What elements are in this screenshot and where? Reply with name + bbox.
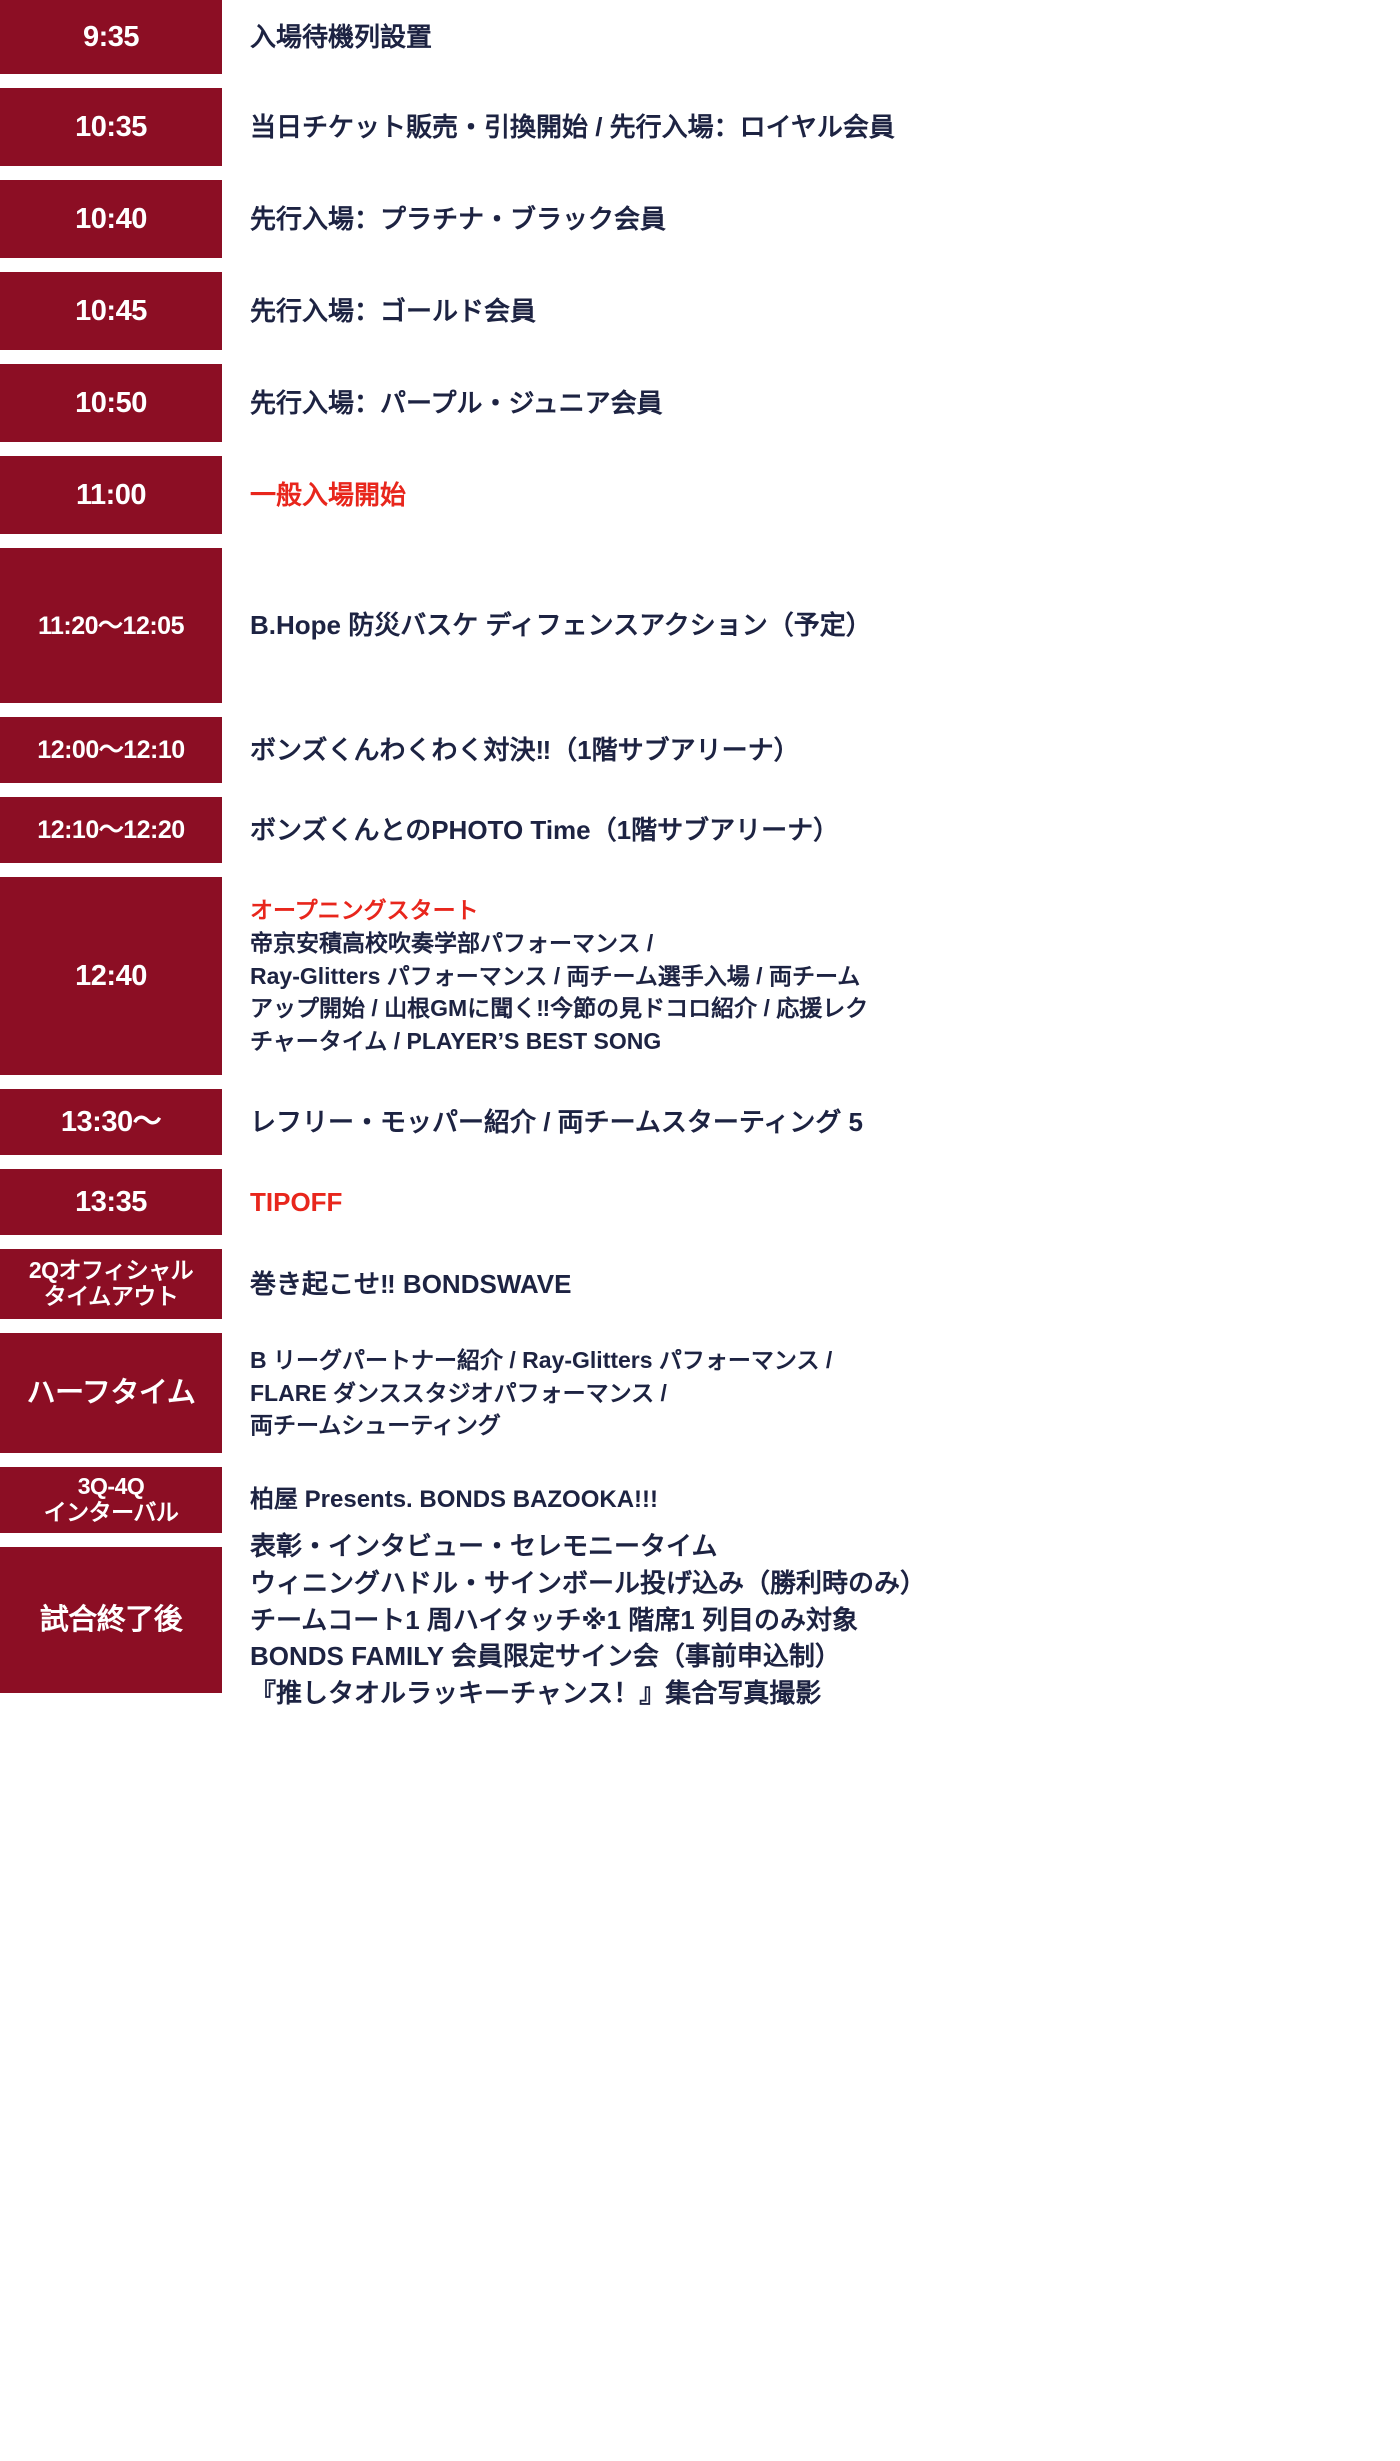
- schedule-description-cell: 柏屋 Presents. BONDS BAZOOKA!!!: [222, 1467, 1400, 1533]
- schedule-row: 2Qオフィシャルタイムアウト巻き起こせ‼ BONDSWAVE: [0, 1249, 1400, 1319]
- schedule-description-line: チャータイム / PLAYER’S BEST SONG: [250, 1025, 1390, 1058]
- schedule-time-cell: 11:00: [0, 456, 222, 534]
- schedule-time-cell: 13:30〜: [0, 1089, 222, 1155]
- schedule-description-line: ボンズくんわくわく対決‼（1階サブアリーナ）: [250, 732, 1390, 769]
- schedule-time-cell: 12:40: [0, 877, 222, 1075]
- schedule-description-cell: 巻き起こせ‼ BONDSWAVE: [222, 1249, 1400, 1319]
- row-gap: [0, 1155, 1400, 1169]
- schedule-time-cell: 10:45: [0, 272, 222, 350]
- schedule-description-line: B リーグパートナー紹介 / Ray-Glitters パフォーマンス /: [250, 1344, 1390, 1377]
- schedule-row: 試合終了後表彰・インタビュー・セレモニータイムウィニングハドル・サインボール投げ…: [0, 1547, 1400, 1693]
- schedule-time-cell: 9:35: [0, 0, 222, 74]
- schedule-time-cell: 11:20〜12:05: [0, 548, 222, 703]
- row-gap: [0, 534, 1400, 548]
- schedule-time-cell: 10:50: [0, 364, 222, 442]
- schedule-row: 13:30〜レフリー・モッパー紹介 / 両チームスターティング 5: [0, 1089, 1400, 1155]
- schedule-row: 10:35当日チケット販売・引換開始 / 先行入場：ロイヤル会員: [0, 88, 1400, 166]
- schedule-time-cell: 試合終了後: [0, 1547, 222, 1693]
- time-label: 13:30〜: [61, 1106, 161, 1138]
- schedule-row: 12:00〜12:10ボンズくんわくわく対決‼（1階サブアリーナ）: [0, 717, 1400, 783]
- schedule-row: 10:50先行入場：パープル・ジュニア会員: [0, 364, 1400, 442]
- schedule-description-cell: 先行入場：プラチナ・ブラック会員: [222, 180, 1400, 258]
- time-label: 10:50: [75, 387, 147, 419]
- time-label: 10:40: [75, 203, 147, 235]
- schedule-description-line: 帝京安積高校吹奏学部パフォーマンス /: [250, 927, 1390, 960]
- schedule-description-cell: B リーグパートナー紹介 / Ray-Glitters パフォーマンス /FLA…: [222, 1333, 1400, 1453]
- schedule-time-cell: 12:00〜12:10: [0, 717, 222, 783]
- time-label: 9:35: [83, 21, 139, 53]
- time-label: ハーフタイム: [27, 1377, 196, 1409]
- row-gap: [0, 166, 1400, 180]
- time-label: 12:10〜12:20: [37, 816, 184, 844]
- schedule-description-line: 一般入場開始: [250, 477, 1390, 514]
- time-label: 12:00〜12:10: [37, 736, 184, 764]
- time-label-line: タイムアウト: [29, 1284, 193, 1310]
- schedule-description-line: BONDS FAMILY 会員限定サイン会（事前申込制）: [250, 1638, 1390, 1675]
- schedule-description-cell: 先行入場：パープル・ジュニア会員: [222, 364, 1400, 442]
- schedule-description-line: チームコート1 周ハイタッチ※1 階席1 列目のみ対象: [250, 1602, 1390, 1639]
- row-gap: [0, 350, 1400, 364]
- schedule-description-line: レフリー・モッパー紹介 / 両チームスターティング 5: [250, 1104, 1390, 1141]
- schedule-description-line: 両チームシューティング: [250, 1409, 1390, 1442]
- schedule-row: 13:35TIPOFF: [0, 1169, 1400, 1235]
- row-gap: [0, 74, 1400, 88]
- time-label: 2Qオフィシャルタイムアウト: [29, 1258, 193, 1310]
- schedule-description-line: ウィニングハドル・サインボール投げ込み（勝利時のみ）: [250, 1565, 1390, 1602]
- schedule-description-line: オープニングスタート: [250, 894, 1390, 927]
- row-gap: [0, 703, 1400, 717]
- schedule-time-cell: 3Q-4Qインターバル: [0, 1467, 222, 1533]
- time-label: 11:00: [76, 479, 146, 511]
- event-schedule-table: 9:35入場待機列設置10:35当日チケット販売・引換開始 / 先行入場：ロイヤ…: [0, 0, 1400, 2461]
- schedule-description-line: 『推しタオルラッキーチャンス！』集合写真撮影: [250, 1675, 1390, 1712]
- schedule-time-cell: ハーフタイム: [0, 1333, 222, 1453]
- row-gap: [0, 442, 1400, 456]
- schedule-description-line: 先行入場：ゴールド会員: [250, 293, 1390, 330]
- row-gap: [0, 1319, 1400, 1333]
- schedule-description-line: ボンズくんとのPHOTO Time（1階サブアリーナ）: [250, 812, 1390, 849]
- time-label: 12:40: [75, 960, 147, 992]
- time-label: 10:45: [75, 295, 147, 327]
- schedule-description-cell: 入場待機列設置: [222, 0, 1400, 74]
- row-gap: [0, 863, 1400, 877]
- schedule-description-cell: B.Hope 防災バスケ ディフェンスアクション（予定）: [222, 548, 1400, 703]
- time-label: 3Q-4Qインターバル: [44, 1474, 179, 1526]
- schedule-description-line: 表彰・インタビュー・セレモニータイム: [250, 1528, 1390, 1565]
- schedule-time-cell: 10:35: [0, 88, 222, 166]
- row-gap: [0, 258, 1400, 272]
- schedule-row: 12:40オープニングスタート帝京安積高校吹奏学部パフォーマンス /Ray-Gl…: [0, 877, 1400, 1075]
- schedule-time-cell: 10:40: [0, 180, 222, 258]
- schedule-time-cell: 12:10〜12:20: [0, 797, 222, 863]
- schedule-description-line: TIPOFF: [250, 1184, 1390, 1221]
- schedule-description-line: FLARE ダンススタジオパフォーマンス /: [250, 1377, 1390, 1410]
- time-label: 10:35: [75, 111, 147, 143]
- schedule-description-line: 先行入場：パープル・ジュニア会員: [250, 385, 1390, 422]
- schedule-row: 11:00一般入場開始: [0, 456, 1400, 534]
- schedule-description-line: 入場待機列設置: [250, 19, 1390, 56]
- schedule-description-cell: ボンズくんわくわく対決‼（1階サブアリーナ）: [222, 717, 1400, 783]
- schedule-row: 11:20〜12:05B.Hope 防災バスケ ディフェンスアクション（予定）: [0, 548, 1400, 703]
- schedule-description-line: B.Hope 防災バスケ ディフェンスアクション（予定）: [250, 607, 1390, 644]
- schedule-description-cell: 当日チケット販売・引換開始 / 先行入場：ロイヤル会員: [222, 88, 1400, 166]
- schedule-row: 9:35入場待機列設置: [0, 0, 1400, 74]
- time-label-line: 3Q-4Q: [44, 1474, 179, 1500]
- schedule-description-line: 当日チケット販売・引換開始 / 先行入場：ロイヤル会員: [250, 109, 1390, 146]
- schedule-description-line: 柏屋 Presents. BONDS BAZOOKA!!!: [250, 1483, 1390, 1517]
- time-label-line: 2Qオフィシャル: [29, 1258, 193, 1284]
- schedule-description-cell: ボンズくんとのPHOTO Time（1階サブアリーナ）: [222, 797, 1400, 863]
- schedule-row: 10:40先行入場：プラチナ・ブラック会員: [0, 180, 1400, 258]
- row-gap: [0, 1075, 1400, 1089]
- schedule-time-cell: 13:35: [0, 1169, 222, 1235]
- schedule-time-cell: 2Qオフィシャルタイムアウト: [0, 1249, 222, 1319]
- time-label-line: インターバル: [44, 1500, 179, 1526]
- schedule-row: 10:45先行入場：ゴールド会員: [0, 272, 1400, 350]
- row-gap: [0, 783, 1400, 797]
- row-gap: [0, 1235, 1400, 1249]
- schedule-row: ハーフタイムB リーグパートナー紹介 / Ray-Glitters パフォーマン…: [0, 1333, 1400, 1453]
- schedule-row: 12:10〜12:20ボンズくんとのPHOTO Time（1階サブアリーナ）: [0, 797, 1400, 863]
- schedule-description-cell: 一般入場開始: [222, 456, 1400, 534]
- time-label: 13:35: [75, 1186, 147, 1218]
- schedule-description-cell: TIPOFF: [222, 1169, 1400, 1235]
- schedule-description-cell: オープニングスタート帝京安積高校吹奏学部パフォーマンス /Ray-Glitter…: [222, 877, 1400, 1075]
- schedule-description-cell: 先行入場：ゴールド会員: [222, 272, 1400, 350]
- time-label: 試合終了後: [40, 1604, 183, 1636]
- schedule-description-line: 巻き起こせ‼ BONDSWAVE: [250, 1266, 1390, 1303]
- schedule-row: 3Q-4Qインターバル柏屋 Presents. BONDS BAZOOKA!!!: [0, 1467, 1400, 1533]
- schedule-description-line: アップ開始 / 山根GMに聞く‼今節の見ドコロ紹介 / 応援レク: [250, 992, 1390, 1025]
- schedule-description-line: Ray-Glitters パフォーマンス / 両チーム選手入場 / 両チーム: [250, 960, 1390, 993]
- time-label: 11:20〜12:05: [38, 612, 184, 640]
- schedule-description-line: 先行入場：プラチナ・ブラック会員: [250, 201, 1390, 238]
- schedule-description-cell: 表彰・インタビュー・セレモニータイムウィニングハドル・サインボール投げ込み（勝利…: [222, 1547, 1400, 1693]
- row-gap: [0, 1453, 1400, 1467]
- schedule-description-cell: レフリー・モッパー紹介 / 両チームスターティング 5: [222, 1089, 1400, 1155]
